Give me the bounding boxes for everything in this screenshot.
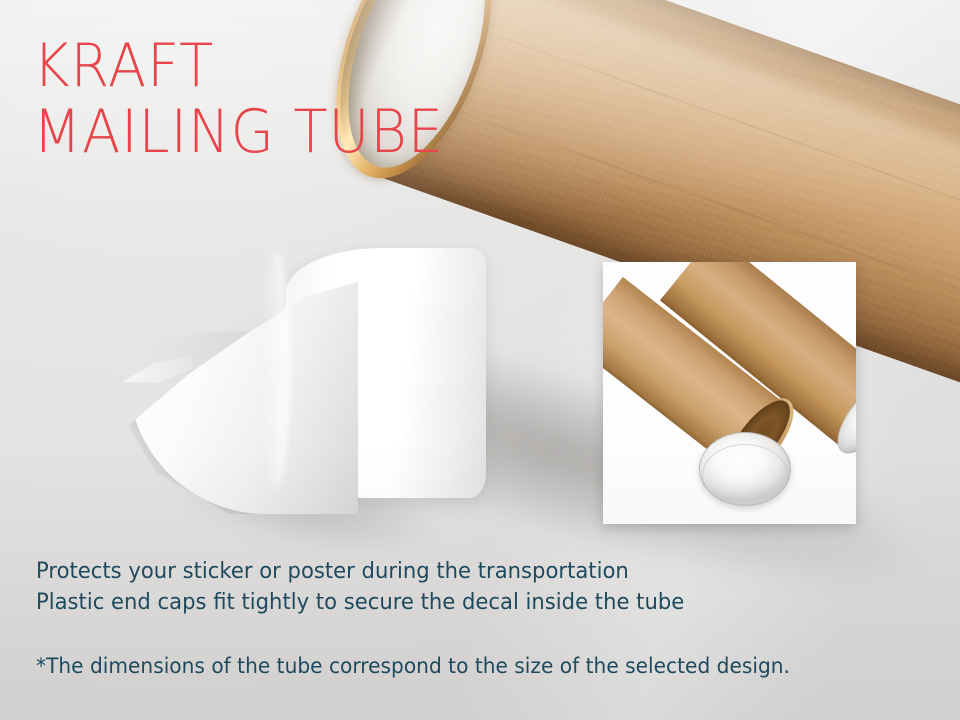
page-title: KRAFT MAILING TUBE [33,33,610,165]
benefit-line-1: Protects your sticker or poster during t… [36,556,862,587]
benefit-line-2: Plastic end caps fit tightly to secure t… [36,587,862,618]
poster-canvas: KRAFT MAILING TUBE Protects your sticker… [0,0,960,720]
footnote-text: *The dimensions of the tube correspond t… [36,653,881,680]
benefit-copy: Protects your sticker or poster during t… [36,556,862,618]
